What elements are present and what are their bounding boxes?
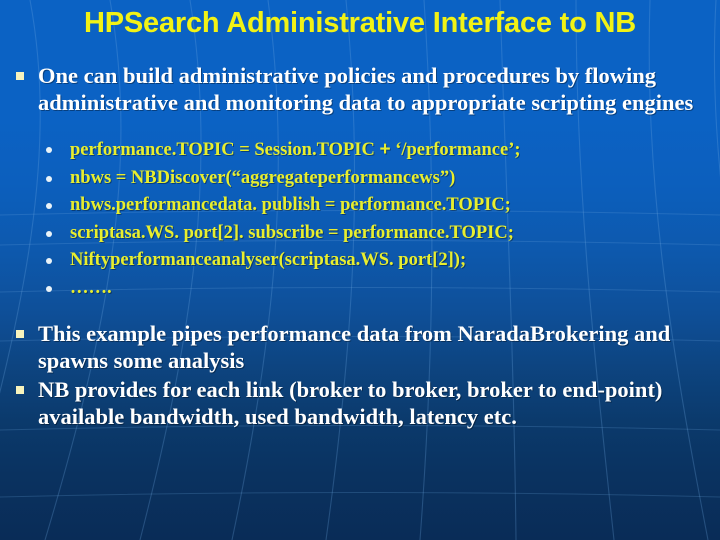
bullet-item: This example pipes performance data from… xyxy=(0,320,720,374)
list-item: nbws.performancedata. publish = performa… xyxy=(0,192,720,220)
round-bullet-icon xyxy=(46,231,52,237)
list-item: Niftyperformanceanalyser(scriptasa.WS. p… xyxy=(0,247,720,275)
round-bullet-icon xyxy=(46,258,52,264)
round-bullet-icon xyxy=(46,147,52,153)
slide-content: One can build administrative policies an… xyxy=(0,62,720,430)
plus-operator: + xyxy=(379,139,390,160)
round-bullet-icon xyxy=(46,286,52,292)
code-line-text: nbws = NBDiscover(“aggregateperformancew… xyxy=(70,168,455,188)
square-bullet-icon xyxy=(16,330,24,338)
round-bullet-icon xyxy=(46,176,52,182)
bullet-text: One can build administrative policies an… xyxy=(38,63,693,115)
list-item: ……. xyxy=(0,275,720,303)
square-bullet-icon xyxy=(16,72,24,80)
bullet-text: This example pipes performance data from… xyxy=(38,321,670,373)
code-line-text: scriptasa.WS. port[2]. subscribe = perfo… xyxy=(70,223,514,243)
list-item: nbws = NBDiscover(“aggregateperformancew… xyxy=(0,165,720,193)
code-line-text: Niftyperformanceanalyser(scriptasa.WS. p… xyxy=(70,250,466,270)
bullet-text: NB provides for each link (broker to bro… xyxy=(38,377,662,429)
list-item: scriptasa.WS. port[2]. subscribe = perfo… xyxy=(0,220,720,248)
code-line-pre: performance.TOPIC = Session.TOPIC xyxy=(70,140,379,160)
page-title: HPSearch Administrative Interface to NB xyxy=(0,4,720,42)
list-item: performance.TOPIC = Session.TOPIC + ‘/pe… xyxy=(0,136,720,165)
code-line-post: ‘/performance’; xyxy=(391,140,521,160)
bullet-item: One can build administrative policies an… xyxy=(0,62,720,116)
code-line-text: ……. xyxy=(70,278,112,298)
presentation-slide: HPSearch Administrative Interface to NB … xyxy=(0,0,720,540)
square-bullet-icon xyxy=(16,386,24,394)
round-bullet-icon xyxy=(46,203,52,209)
code-line-text: nbws.performancedata. publish = performa… xyxy=(70,195,511,215)
bullet-item: NB provides for each link (broker to bro… xyxy=(0,376,720,430)
code-sublist: performance.TOPIC = Session.TOPIC + ‘/pe… xyxy=(0,136,720,302)
